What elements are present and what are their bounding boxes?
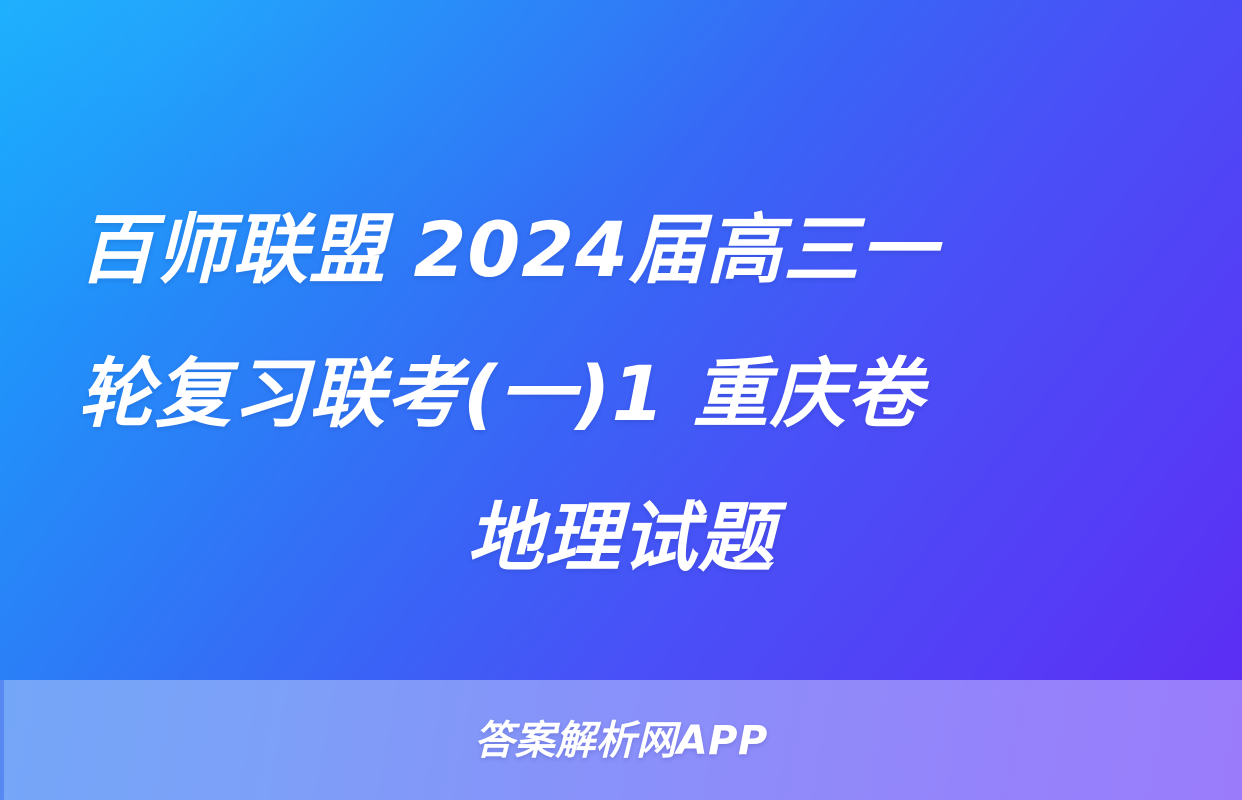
page-title: 百师联盟 2024届高三一 轮复习联考(一)1 重庆卷 地理试题 [0, 178, 1242, 610]
page-title-line-3: 地理试题 [58, 466, 1184, 610]
page-title-line-1: 百师联盟 2024届高三一 [58, 178, 1184, 322]
watermark-app-label: 答案解析网APP [474, 721, 768, 761]
exam-paper-cover-poster: 百师联盟 2024届高三一 轮复习联考(一)1 重庆卷 地理试题 答案解析网AP… [0, 0, 1242, 800]
watermark-band: 答案解析网APP [0, 680, 1242, 800]
page-title-line-2: 轮复习联考(一)1 重庆卷 [58, 322, 1184, 466]
